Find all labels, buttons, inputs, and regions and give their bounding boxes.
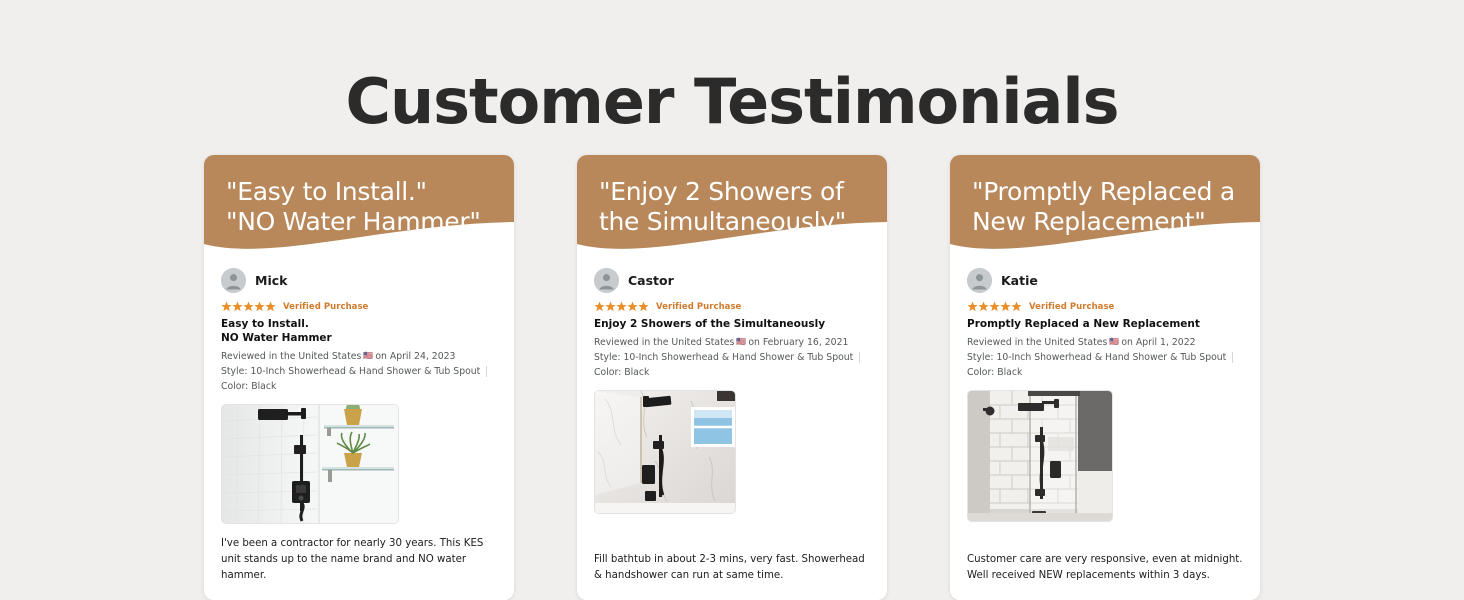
- reviewer-row: Katie: [967, 268, 1243, 293]
- reviewer-name: Katie: [1001, 273, 1038, 288]
- review-style-line: Style: 10-Inch Showerhead & Hand Shower …: [967, 350, 1243, 365]
- star-icon: [243, 301, 254, 312]
- review-title: Promptly Replaced a New Replacement: [967, 317, 1243, 331]
- card-header: "Enjoy 2 Showers of the Simultaneously": [577, 155, 887, 255]
- avatar-icon: [967, 268, 992, 293]
- star-icon: [232, 301, 243, 312]
- star-rating: [967, 301, 1022, 312]
- review-location-date: Reviewed in the United States 🇺🇸 on Apri…: [221, 349, 497, 364]
- reviewed-date: on February 16, 2021: [748, 335, 848, 350]
- meta-divider: [486, 366, 487, 377]
- star-icon: [627, 301, 638, 312]
- verified-purchase-badge: Verified Purchase: [1029, 302, 1114, 312]
- style-text: Style: 10-Inch Showerhead & Hand Shower …: [967, 350, 1226, 365]
- us-flag-icon: 🇺🇸: [1109, 336, 1119, 349]
- star-icon: [616, 301, 627, 312]
- testimonial-cards-row: "Easy to Install." "NO Water Hammer" Mic…: [0, 155, 1464, 600]
- style-text: Style: 10-Inch Showerhead & Hand Shower …: [594, 350, 853, 365]
- rating-row: Verified Purchase: [221, 301, 497, 312]
- star-icon: [265, 301, 276, 312]
- reviewer-row: Castor: [594, 268, 870, 293]
- us-flag-icon: 🇺🇸: [363, 350, 373, 363]
- avatar-icon: [221, 268, 246, 293]
- verified-purchase-badge: Verified Purchase: [283, 302, 368, 312]
- star-icon: [221, 301, 232, 312]
- meta-divider: [1232, 352, 1233, 363]
- header-curve-decoration: [577, 222, 887, 256]
- rating-row: Verified Purchase: [967, 301, 1243, 312]
- rating-row: Verified Purchase: [594, 301, 870, 312]
- subway-tile-shower-glass-door-photo: [968, 391, 1112, 521]
- header-curve-decoration: [204, 222, 514, 256]
- reviewed-prefix: Reviewed in the United States: [594, 335, 734, 350]
- reviewed-prefix: Reviewed in the United States: [967, 335, 1107, 350]
- review-color-line: Color: Black: [967, 365, 1243, 380]
- style-text: Style: 10-Inch Showerhead & Hand Shower …: [221, 364, 480, 379]
- star-icon: [254, 301, 265, 312]
- card-header: "Promptly Replaced a New Replacement": [950, 155, 1260, 255]
- card-body: Mick Verified Purchase Easy to Install. …: [204, 255, 514, 600]
- star-icon: [1011, 301, 1022, 312]
- review-photo[interactable]: [594, 390, 736, 514]
- star-icon: [978, 301, 989, 312]
- reviewer-name: Mick: [255, 273, 287, 288]
- star-rating: [221, 301, 276, 312]
- reviewer-row: Mick: [221, 268, 497, 293]
- reviewed-prefix: Reviewed in the United States: [221, 349, 361, 364]
- reviewer-name: Castor: [628, 273, 674, 288]
- star-icon: [1000, 301, 1011, 312]
- testimonial-card[interactable]: "Promptly Replaced a New Replacement" Ka…: [950, 155, 1260, 600]
- star-rating: [594, 301, 649, 312]
- review-body-text: Customer care are very responsive, even …: [967, 540, 1243, 584]
- verified-purchase-badge: Verified Purchase: [656, 302, 741, 312]
- reviewed-date: on April 1, 2022: [1121, 335, 1195, 350]
- us-flag-icon: 🇺🇸: [736, 336, 746, 349]
- card-body: Castor Verified Purchase Enjoy 2 Showers…: [577, 255, 887, 600]
- header-curve-decoration: [950, 222, 1260, 256]
- review-location-date: Reviewed in the United States 🇺🇸 on Febr…: [594, 335, 870, 350]
- card-header: "Easy to Install." "NO Water Hammer": [204, 155, 514, 255]
- star-icon: [605, 301, 616, 312]
- star-icon: [967, 301, 978, 312]
- card-body: Katie Verified Purchase Promptly Replace…: [950, 255, 1260, 600]
- review-body-text: I've been a contractor for nearly 30 yea…: [221, 524, 497, 583]
- review-style-line: Style: 10-Inch Showerhead & Hand Shower …: [594, 350, 870, 365]
- avatar-icon: [594, 268, 619, 293]
- review-style-line: Style: 10-Inch Showerhead & Hand Shower …: [221, 364, 497, 379]
- meta-divider: [859, 352, 860, 363]
- reviewed-date: on April 24, 2023: [375, 349, 455, 364]
- review-photo[interactable]: [221, 404, 399, 524]
- white-tile-shower-black-fixtures-photo: [222, 405, 398, 523]
- review-photo[interactable]: [967, 390, 1113, 522]
- review-color-line: Color: Black: [594, 365, 870, 380]
- page-title: Customer Testimonials: [0, 68, 1464, 136]
- marble-shower-window-photo: [595, 391, 735, 513]
- review-body-text: Fill bathtub in about 2-3 mins, very fas…: [594, 540, 870, 584]
- review-location-date: Reviewed in the United States 🇺🇸 on Apri…: [967, 335, 1243, 350]
- testimonial-card[interactable]: "Easy to Install." "NO Water Hammer" Mic…: [204, 155, 514, 600]
- testimonial-card[interactable]: "Enjoy 2 Showers of the Simultaneously" …: [577, 155, 887, 600]
- star-icon: [638, 301, 649, 312]
- review-color-line: Color: Black: [221, 379, 497, 394]
- star-icon: [594, 301, 605, 312]
- star-icon: [989, 301, 1000, 312]
- review-title: Enjoy 2 Showers of the Simultaneously: [594, 317, 870, 331]
- review-title: Easy to Install. NO Water Hammer: [221, 317, 497, 345]
